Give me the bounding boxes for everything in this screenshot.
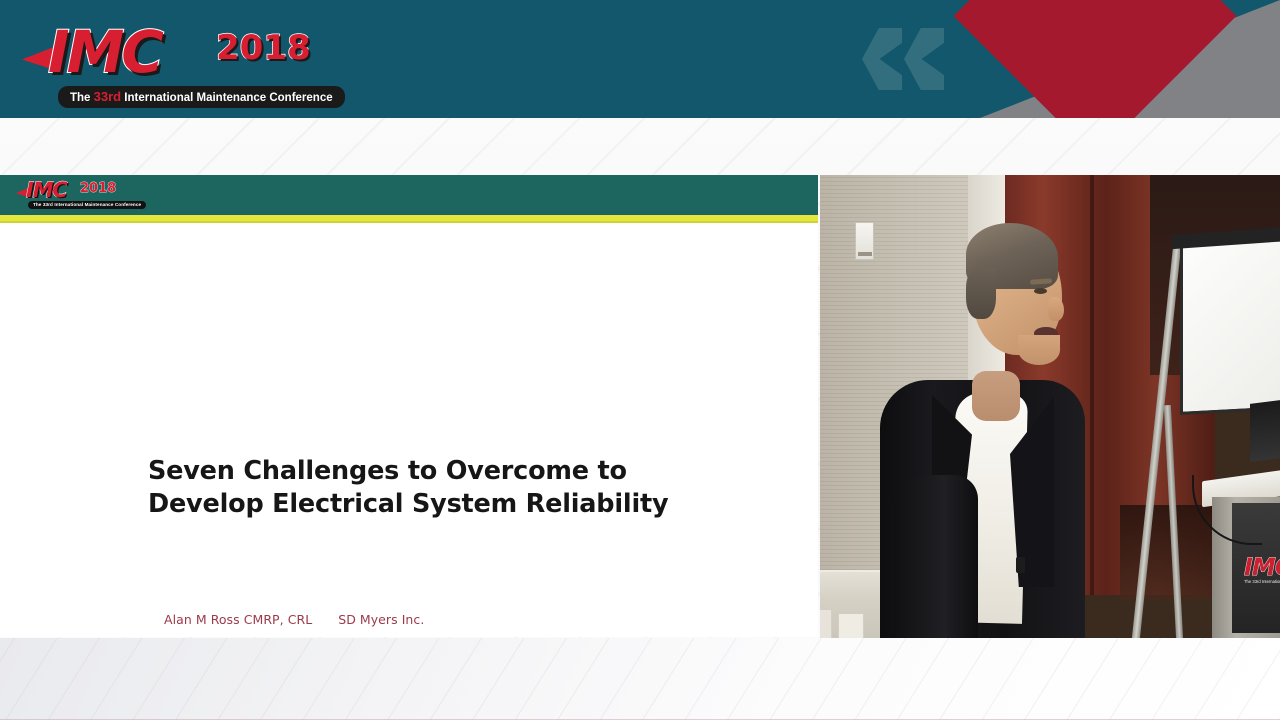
- speaker-nose: [1048, 297, 1064, 321]
- speaker-hair-side: [966, 267, 996, 319]
- brand-geometry-decoration: [820, 0, 1280, 118]
- lapel-microphone: [1016, 557, 1025, 573]
- slide-presenter-org: SD Myers Inc.: [338, 612, 424, 627]
- imc-conference-logo: IMC 2018 The 33rd International Maintena…: [38, 18, 338, 106]
- slide-content-area: [0, 223, 818, 585]
- lower-third-name-bar: Alan Ross SD MYERS INC.: [0, 638, 1280, 720]
- slide-title: Seven Challenges to Overcome to Develop …: [148, 455, 708, 521]
- top-brand-bar: IMC 2018 The 33rd International Maintena…: [0, 0, 1280, 118]
- speaker-arm: [894, 475, 978, 638]
- wall-switch-plate: [838, 613, 864, 638]
- slide-imc-year: 2018: [80, 181, 116, 196]
- podium-laptop: [1250, 398, 1280, 462]
- slide-imc-tagline: The 33rd International Maintenance Confe…: [28, 201, 146, 209]
- door-seam: [1090, 175, 1094, 595]
- slide-panel[interactable]: IMC 2018 The 33rd International Maintena…: [0, 175, 818, 637]
- slide-imc-wordmark: IMC: [26, 178, 67, 202]
- speaker-eye: [1034, 288, 1047, 294]
- speaker-chin: [1018, 335, 1060, 365]
- slide-presenter-name: Alan M Ross CMRP, CRL: [164, 612, 312, 627]
- imc-tagline: The 33rd International Maintenance Confe…: [58, 86, 345, 108]
- red-diamond-shape: [954, 0, 1237, 118]
- presentation-viewer: IMC 2018 The 33rd International Maintena…: [0, 0, 1280, 720]
- wall-switch-plate-secondary: [820, 609, 832, 638]
- speaker-neck: [972, 371, 1020, 421]
- tagline-ordinal-suffix: rd: [108, 89, 121, 104]
- flip-chart-board: [1180, 234, 1280, 415]
- wall-thermostat: [855, 222, 874, 260]
- tagline-ordinal: 33: [94, 89, 108, 104]
- tagline-suffix: International Maintenance Conference: [121, 92, 333, 104]
- speaker-video-feed[interactable]: IMC The 33rd International Maintenance C…: [820, 175, 1280, 638]
- red-diamond-clip: [820, 0, 1280, 118]
- tagline-prefix: The: [70, 92, 94, 104]
- podium-imc-logo: IMC: [1244, 553, 1280, 581]
- slide-presenter-line: Alan M Ross CMRP, CRLSD Myers Inc.: [164, 612, 424, 627]
- slide-imc-logo: IMC 2018 The 33rd International Maintena…: [18, 178, 128, 212]
- imc-wordmark: IMC: [48, 18, 161, 86]
- podium-imc-tagline: The 33rd International Maintenance Confe…: [1244, 579, 1280, 584]
- imc-year: 2018: [216, 28, 311, 68]
